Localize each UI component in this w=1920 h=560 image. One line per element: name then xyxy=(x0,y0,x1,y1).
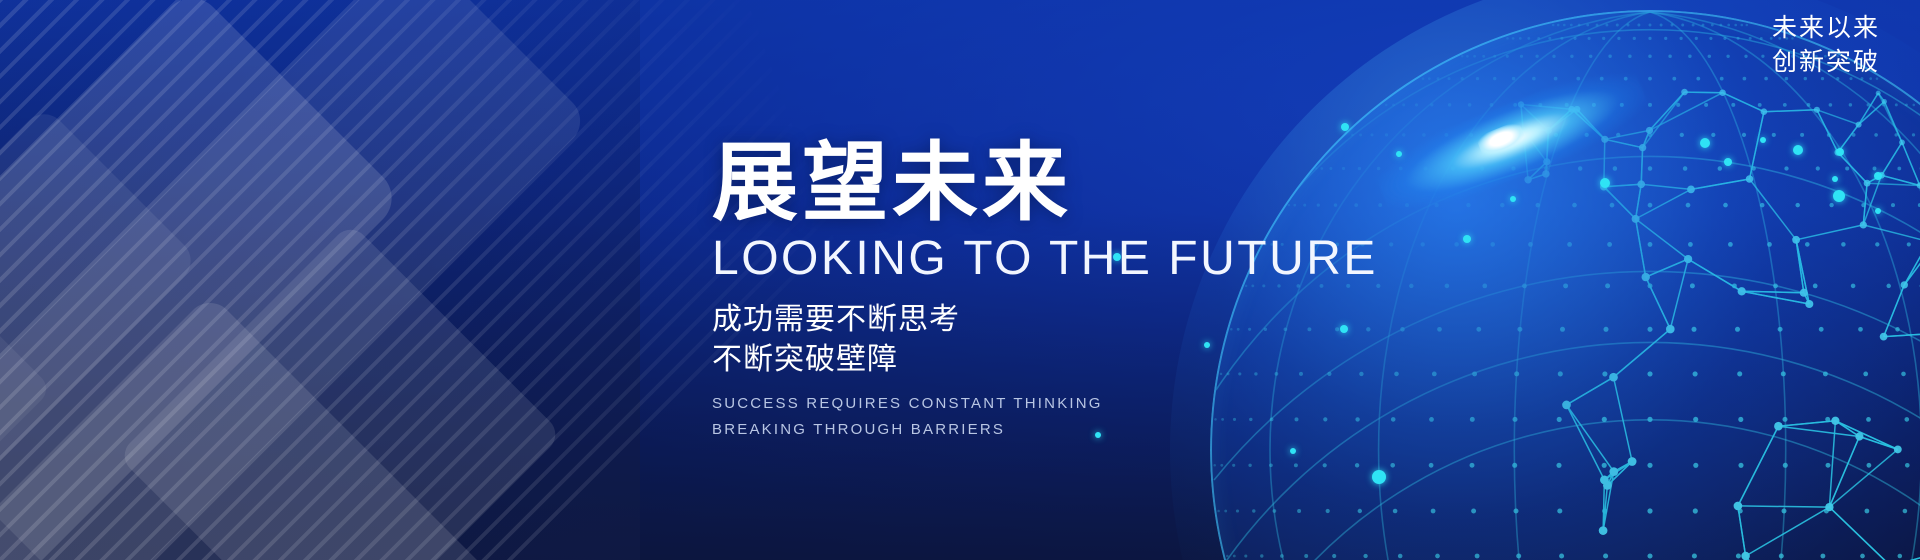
particle-dot xyxy=(1290,448,1296,454)
particle-dot xyxy=(1836,148,1844,156)
headline-sub-cn-line2: 不断突破壁障 xyxy=(712,340,1472,380)
headline-sub-en-line2: BREAKING THROUGH BARRIERS xyxy=(712,418,1472,442)
headline-block: 展望未来 LOOKING TO THE FUTURE 成功需要不断思考 不断突破… xyxy=(712,140,1472,442)
banner-root: 展望未来 LOOKING TO THE FUTURE 成功需要不断思考 不断突破… xyxy=(0,0,1920,560)
particle-dot xyxy=(1341,123,1349,131)
particle-dot xyxy=(1793,145,1803,155)
corner-slogan-line1: 未来以来 xyxy=(1772,12,1880,46)
particle-dot xyxy=(1700,138,1710,148)
particle-dot xyxy=(1600,178,1610,188)
headline-title-en: LOOKING TO THE FUTURE xyxy=(712,234,1472,284)
headline-sub-en-line1: SUCCESS REQUIRES CONSTANT THINKING xyxy=(712,392,1472,416)
headline-title-cn: 展望未来 xyxy=(712,140,1472,226)
corner-slogan: 未来以来 创新突破 xyxy=(1772,12,1880,79)
particle-dot xyxy=(1832,176,1838,182)
corner-slogan-line2: 创新突破 xyxy=(1772,46,1880,80)
particle-dot xyxy=(1724,158,1732,166)
particle-dot xyxy=(1510,196,1516,202)
particle-dot xyxy=(1760,137,1766,143)
particle-dot xyxy=(1875,208,1881,214)
particle-dot xyxy=(1372,470,1386,484)
particle-dot xyxy=(1833,190,1845,202)
particle-dot xyxy=(1874,172,1882,180)
headline-sub-cn-line1: 成功需要不断思考 xyxy=(712,300,1472,340)
